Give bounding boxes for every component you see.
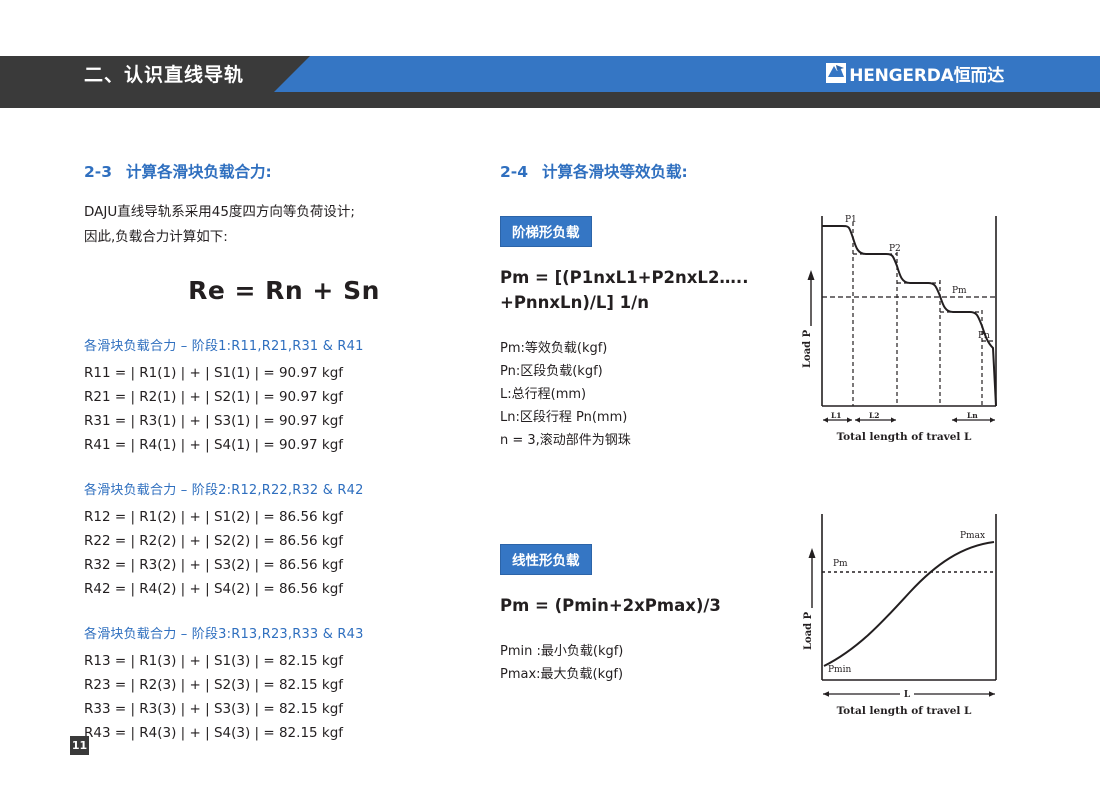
equation-row: R42 = | R4(2) | + | S4(2) | = 86.56 kgf (84, 577, 484, 601)
y-axis-arrow-head (809, 548, 816, 558)
brand-logo: HENGERDA恒而达 (826, 60, 1004, 86)
equation-row: R13 = | R1(3) | + | S1(3) | = 82.15 kgf (84, 649, 484, 673)
chapter-title: 二、认识直线导轨 (84, 57, 244, 93)
group-heading: 各滑块负载合力 – 阶段2:R12,R22,R32 & R42 (84, 479, 484, 498)
equation-row: R43 = | R4(3) | + | S4(3) | = 82.15 kgf (84, 721, 484, 745)
linear-load-block: 线性形负载 Pm = (Pmin+2xPmax)/3 Pmin :最小负载(kg… (500, 544, 800, 686)
label-pmin: Pmin (828, 665, 851, 675)
equation-row: R31 = | R3(1) | + | S3(1) | = 90.97 kgf (84, 409, 484, 433)
stepped-load-definitions: Pm:等效负载(kgf) Pn:区段负载(kgf) L:总行程(mm) Ln:区… (500, 337, 800, 452)
section-heading-text: 计算各滑块等效负载: (542, 163, 688, 181)
equation-row: R22 = | R2(2) | + | S2(2) | = 86.56 kgf (84, 529, 484, 553)
linear-load-badge: 线性形负载 (500, 544, 592, 575)
group-heading: 各滑块负载合力 – 阶段1:R11,R21,R31 & R41 (84, 335, 484, 354)
section-title-2-3: 2-3计算各滑块负载合力: (84, 160, 484, 182)
segment-label-ln: Ln (967, 411, 978, 420)
definition-row: Pm:等效负载(kgf) (500, 337, 800, 360)
load-group-stage-1: 各滑块负载合力 – 阶段1:R11,R21,R31 & R41 R11 = | … (84, 335, 484, 457)
segment-ln-arrow-left (952, 417, 957, 422)
segment-label-l2: L2 (869, 411, 880, 420)
equation-row: R33 = | R3(3) | + | S3(3) | = 82.15 kgf (84, 697, 484, 721)
linear-load-definitions: Pmin :最小负载(kgf) Pmax:最大负载(kgf) (500, 640, 800, 686)
linear-load-chart: Load P Pm Pmin Pmax L Total length of tr… (800, 508, 1005, 720)
y-axis-arrow-head (808, 270, 815, 280)
linear-load-curve (824, 542, 994, 666)
segment-l2-arrow-left (855, 417, 860, 422)
y-axis-label: Load P (802, 329, 813, 368)
stepped-load-chart-svg: Load P Pm P1 P2 Pn L1 L2 Ln Total l (800, 208, 1005, 448)
definition-row: Pn:区段负载(kgf) (500, 360, 800, 383)
span-arrow-right (989, 691, 995, 697)
segment-l1-arrow-right (847, 417, 852, 422)
x-axis-label: Total length of travel L (837, 431, 972, 443)
y-axis-label: Load P (803, 611, 814, 650)
stepped-load-formula: Pm = [(P1nxL1+P2nxL2….. +PnnxLn)/L] 1/n (500, 265, 800, 315)
label-pm: Pm (833, 559, 848, 569)
segment-l1-arrow-left (823, 417, 828, 422)
intro-line-2: 因此,负载合力计算如下: (84, 225, 484, 250)
section-number: 2-4 (500, 163, 528, 181)
load-group-stage-3: 各滑块负载合力 – 阶段3:R13,R23,R33 & R43 R13 = | … (84, 623, 484, 745)
definition-row: n = 3,滚动部件为钢珠 (500, 429, 800, 452)
right-column: 2-4计算各滑块等效负载: 阶梯形负载 Pm = [(P1nxL1+P2nxL2… (500, 160, 800, 686)
stepped-load-block: 阶梯形负载 Pm = [(P1nxL1+P2nxL2….. +PnnxLn)/L… (500, 216, 800, 452)
segment-ln-arrow-right (990, 417, 995, 422)
definition-row: Pmin :最小负载(kgf) (500, 640, 800, 663)
main-formula: Re = Rn + Sn (84, 276, 484, 305)
label-p1: P1 (845, 215, 857, 225)
brand-name: HENGERDA恒而达 (849, 61, 1004, 86)
span-label-l: L (904, 690, 911, 700)
section-number: 2-3 (84, 163, 112, 181)
load-group-stage-2: 各滑块负载合力 – 阶段2:R12,R22,R32 & R42 R12 = | … (84, 479, 484, 601)
definition-row: L:总行程(mm) (500, 383, 800, 406)
formula-line-2: +PnnxLn)/L] 1/n (500, 290, 800, 315)
section-heading-text: 计算各滑块负载合力: (126, 163, 272, 181)
equation-row: R11 = | R1(1) | + | S1(1) | = 90.97 kgf (84, 361, 484, 385)
intro-line-1: DAJU直线导轨系采用45度四方向等负荷设计; (84, 200, 484, 225)
left-column: 2-3计算各滑块负载合力: DAJU直线导轨系采用45度四方向等负荷设计; 因此… (84, 160, 484, 767)
linear-load-formula: Pm = (Pmin+2xPmax)/3 (500, 593, 800, 618)
definition-row: Ln:区段行程 Pn(mm) (500, 406, 800, 429)
equation-row: R21 = | R2(1) | + | S2(1) | = 90.97 kgf (84, 385, 484, 409)
segment-label-l1: L1 (831, 411, 842, 420)
linear-load-chart-svg: Load P Pm Pmin Pmax L Total length of tr… (800, 508, 1005, 720)
section-title-2-4: 2-4计算各滑块等效负载: (500, 160, 800, 182)
label-pm: Pm (952, 286, 967, 296)
page-number-badge: 11 (70, 736, 89, 755)
page-header: 二、认识直线导轨 HENGERDA恒而达 (0, 56, 1100, 108)
label-pmax: Pmax (960, 531, 985, 541)
equation-row: R32 = | R3(2) | + | S3(2) | = 86.56 kgf (84, 553, 484, 577)
equation-row: R41 = | R4(1) | + | S4(1) | = 90.97 kgf (84, 433, 484, 457)
label-p2: P2 (889, 244, 901, 254)
hengerda-mark-icon (826, 63, 846, 83)
definition-row: Pmax:最大负载(kgf) (500, 663, 800, 686)
formula-line-1: Pm = [(P1nxL1+P2nxL2….. (500, 265, 800, 290)
span-arrow-left (823, 691, 829, 697)
equation-row: R12 = | R1(2) | + | S1(2) | = 86.56 kgf (84, 505, 484, 529)
segment-l2-arrow-right (891, 417, 896, 422)
group-heading: 各滑块负载合力 – 阶段3:R13,R23,R33 & R43 (84, 623, 484, 642)
equation-row: R23 = | R2(3) | + | S2(3) | = 82.15 kgf (84, 673, 484, 697)
x-axis-label: Total length of travel L (837, 705, 972, 717)
label-pn: Pn (978, 331, 990, 341)
stepped-load-badge: 阶梯形负载 (500, 216, 592, 247)
step-curve (822, 226, 996, 406)
stepped-load-chart: Load P Pm P1 P2 Pn L1 L2 Ln Total l (800, 208, 1005, 448)
